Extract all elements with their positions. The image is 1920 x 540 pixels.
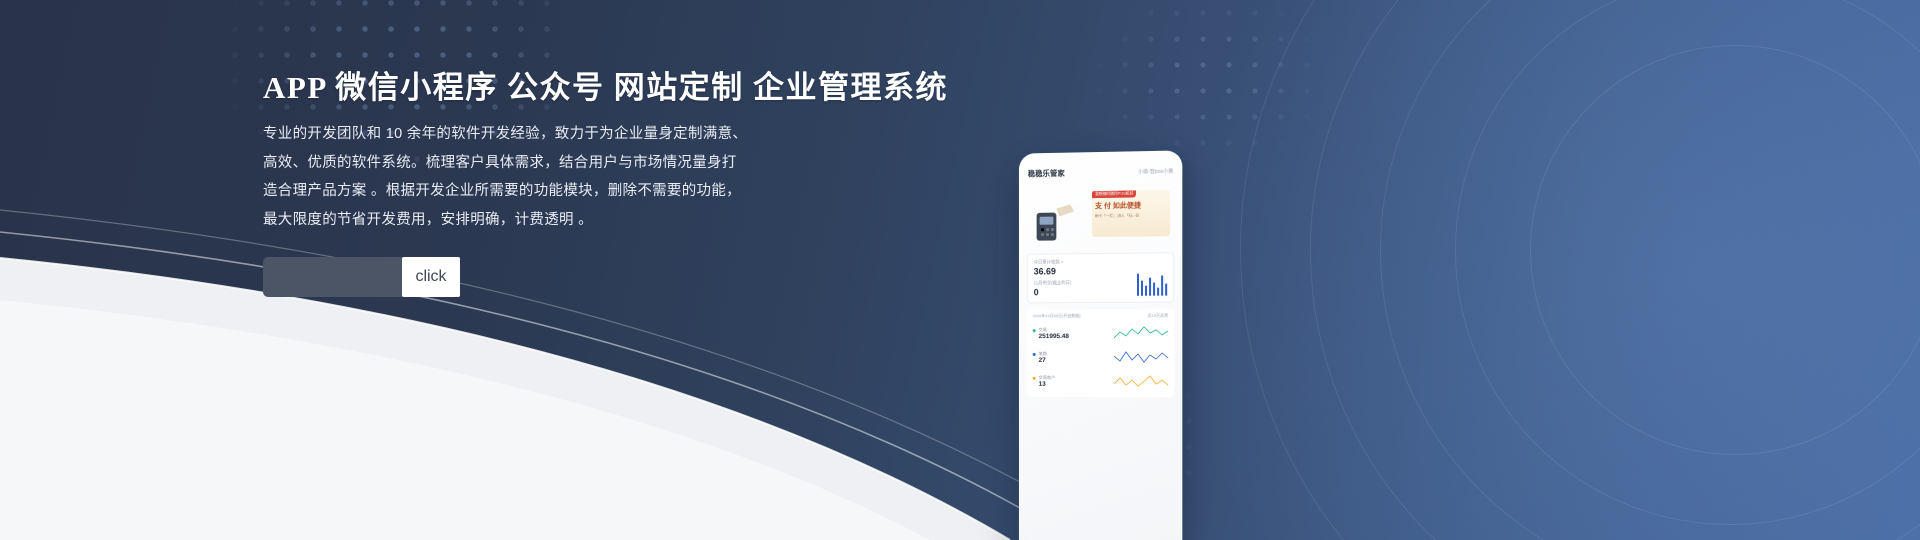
list-item-value: 13 <box>1039 380 1056 387</box>
promo-card: 我想随时随时POS机好 支 付 如此便捷 刷卡「一栏」,进入「扫」码 <box>1092 190 1170 237</box>
page-title: APP 微信小程序 公众号 网站定制 企业管理系统 <box>263 62 948 107</box>
today-total-label: 今日累计收款 > <box>1034 258 1167 265</box>
click-button[interactable]: click <box>402 257 460 297</box>
promo-banner[interactable]: 我想随时随时POS机好 支 付 如此便捷 刷卡「一栏」,进入「扫」码 <box>1027 183 1174 247</box>
pos-terminal-illustration <box>1031 202 1082 242</box>
list-item-value: 27 <box>1039 356 1047 363</box>
description-line-1: 专业的开发团队和 10 余年的软件开发经验，致力于为企业量身定制满意、 <box>263 120 783 149</box>
app-subtitle: 小助-智pos小黄 <box>1138 168 1173 176</box>
app-name: 稳稳乐管家 <box>1028 168 1065 180</box>
list-item-value: 251995.48 <box>1039 333 1069 340</box>
list-item-label: 交易商户 <box>1039 374 1056 380</box>
trend-list-header: 2020年10月05日(开启数据) 近15天走势 <box>1033 313 1168 319</box>
trend-date-label: 2020年10月05日(开启数据) <box>1033 313 1081 319</box>
cta-group: click <box>263 257 460 297</box>
hero-description: 专业的开发团队和 10 余年的软件开发经验，致力于为企业量身定制满意、 高效、优… <box>263 120 783 234</box>
status-dot <box>1033 376 1036 379</box>
status-dot <box>1033 352 1036 355</box>
decorative-ring-5 <box>1530 45 1920 455</box>
description-line-2: 高效、优质的软件系统。梳理客户具体需求，结合用户与市场情况量身打 <box>263 149 783 178</box>
hero-banner: APP 微信小程序 公众号 网站定制 企业管理系统 专业的开发团队和 10 余年… <box>0 0 1920 540</box>
promo-subtext: 刷卡「一栏」,进入「扫」码 <box>1095 212 1167 219</box>
list-item[interactable]: 笔数27 <box>1033 347 1168 367</box>
trend-range-label: 近15天走势 <box>1148 313 1169 319</box>
sparkline-chart <box>1114 347 1168 367</box>
sparkline-chart <box>1114 323 1168 343</box>
hero-content: APP 微信小程序 公众号 网站定制 企业管理系统 专业的开发团队和 10 余年… <box>263 0 983 540</box>
sparkline-chart <box>1114 371 1168 391</box>
list-item-label: 笔数 <box>1039 351 1047 357</box>
status-dot <box>1033 329 1036 332</box>
description-line-3: 造合理产品方案 。根据开发企业所需要的功能模块，删除不需要的功能， <box>263 177 783 206</box>
promo-headline: 支 付 如此便捷 <box>1095 200 1167 211</box>
trend-list-card[interactable]: 2020年10月05日(开启数据) 近15天走势 交易251995.48笔数27… <box>1027 309 1174 398</box>
phone-mockup: 稳稳乐管家 小助-智pos小黄 我想随时随时POS机好 支 付 如此便捷 刷卡「… <box>1019 150 1182 540</box>
stats-card[interactable]: 今日累计收款 > 36.69 11月布交(截止昨日) 0 <box>1027 252 1174 303</box>
mini-bar-chart <box>1136 273 1167 295</box>
list-item[interactable]: 交易商户13 <box>1033 371 1168 391</box>
description-line-4: 最大限度的节省开发费用，安排明确，计费透明 。 <box>263 206 783 235</box>
trend-rows: 交易251995.48笔数27交易商户13 <box>1033 323 1168 391</box>
list-item[interactable]: 交易251995.48 <box>1033 323 1168 343</box>
promo-tag: 我想随时随时POS机好 <box>1092 190 1136 198</box>
